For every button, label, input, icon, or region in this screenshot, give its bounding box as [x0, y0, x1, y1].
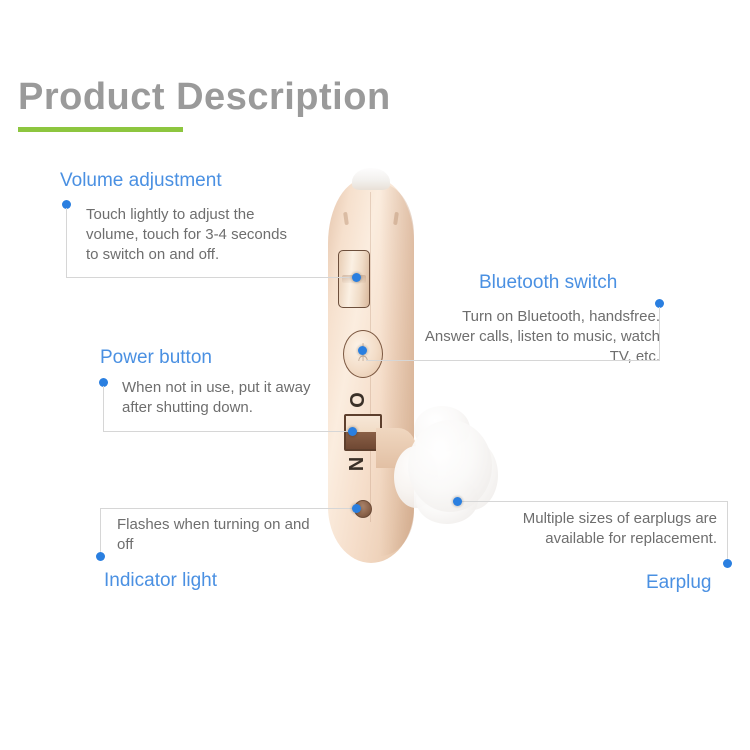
callout-title-bluetooth-switch: Bluetooth switch: [479, 272, 617, 294]
callout-body-volume-adjustment: Touch lightly to adjust the volume, touc…: [86, 205, 301, 264]
callout-title-earplug: Earplug: [646, 572, 712, 594]
callout-line-vertical-power-button: [103, 386, 104, 432]
product-description-infographic: { "header": { "title": "Product Descript…: [0, 0, 750, 750]
callout-body-power-button: When not in use, put it away after shutt…: [122, 378, 312, 418]
title-underline-accent: [18, 127, 183, 132]
callout-line-vertical-earplug: [727, 501, 728, 561]
device-dot-indicator-led: [352, 504, 361, 513]
device-dot-earplug: [453, 497, 462, 506]
callout-title-power-button: Power button: [100, 347, 212, 369]
callout-line-vertical-indicator-light: [100, 508, 101, 555]
callout-dot-indicator-light: [96, 552, 105, 561]
callout-line-vertical-bluetooth-switch: [659, 307, 660, 361]
page-title: Product Description: [18, 78, 391, 116]
callout-dot-earplug: [723, 559, 732, 568]
callout-title-volume-adjustment: Volume adjustment: [60, 170, 222, 192]
callout-line-horizontal-power-button: [103, 431, 352, 432]
device-top-cap: [352, 168, 390, 190]
callout-line-horizontal-earplug: [462, 501, 727, 502]
callout-line-vertical-volume-adjustment: [66, 208, 67, 278]
callout-title-indicator-light: Indicator light: [104, 570, 217, 592]
callout-body-indicator-light: Flashes when turning on and off: [117, 515, 317, 555]
callout-line-horizontal-indicator-light: [100, 508, 356, 509]
switch-label-off: O: [346, 392, 366, 408]
callout-line-horizontal-bluetooth-switch: [366, 360, 660, 361]
earplug-lobe-main: [408, 420, 492, 512]
device-dot-volume-rocker: [352, 273, 361, 282]
switch-label-on: N: [345, 457, 365, 471]
device-dot-bluetooth-button: [358, 346, 367, 355]
device-dot-power-switch: [348, 427, 357, 436]
callout-body-earplug: Multiple sizes of earplugs are available…: [472, 509, 717, 549]
callout-body-bluetooth-switch: Turn on Bluetooth, handsfree. Answer cal…: [415, 307, 660, 366]
earplug-dome: [392, 404, 504, 526]
callout-line-horizontal-volume-adjustment: [66, 277, 356, 278]
